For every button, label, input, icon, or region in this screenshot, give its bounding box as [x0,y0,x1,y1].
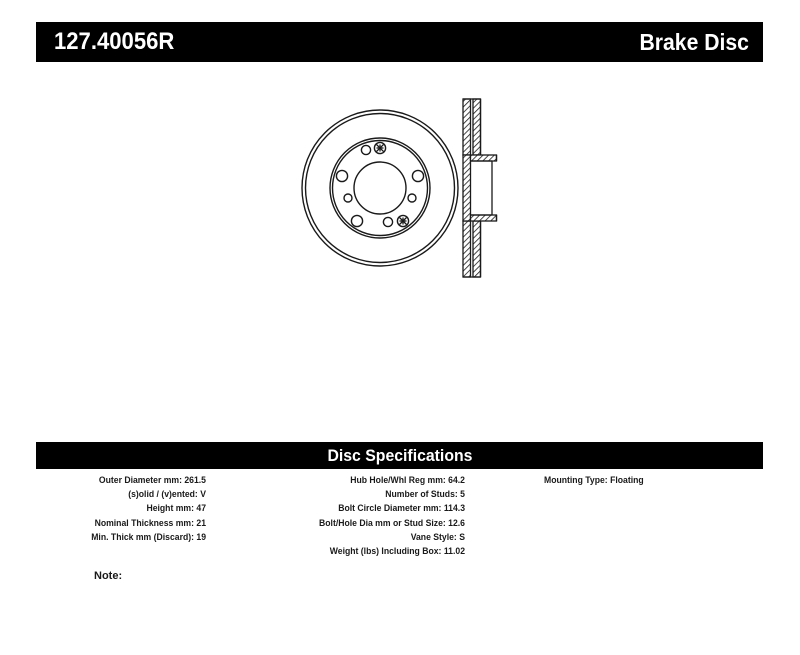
spec-value: 12.6 [448,518,465,528]
spec-value: Floating [610,475,644,485]
header-bar: 127.40056R Brake Disc [36,22,763,62]
spec-row: Weight (lbs) Including Box: 11.02 [232,544,465,558]
spec-row: Outer Diameter mm: 261.5 [43,473,206,487]
spec-section-header: Disc Specifications [36,442,763,469]
spec-label: Hub Hole/Whl Reg mm: [350,475,446,485]
spec-row: Min. Thick mm (Discard): 19 [43,530,206,544]
spec-label: (s)olid / (v)ented: [128,489,198,499]
spec-row: Bolt/Hole Dia mm or Stud Size: 12.6 [232,516,465,530]
product-drawing [280,86,520,296]
spec-label: Number of Studs: [385,489,457,499]
spec-column-left: Outer Diameter mm: 261.5 (s)olid / (v)en… [36,473,206,544]
spec-label: Vane Style: [411,532,457,542]
spec-row: Vane Style: S [232,530,465,544]
spec-label: Min. Thick mm (Discard): [91,532,194,542]
spec-row: Number of Studs: 5 [232,487,465,501]
spec-value: 5 [460,489,465,499]
spec-label: Height mm: [146,503,194,513]
spec-label: Nominal Thickness mm: [95,518,194,528]
spec-row: Bolt Circle Diameter mm: 114.3 [232,501,465,515]
spec-value: 64.2 [448,475,465,485]
spec-label: Bolt Circle Diameter mm: [338,503,441,513]
spec-column-right: Mounting Type: Floating [544,473,763,487]
spec-row: Mounting Type: Floating [544,473,754,487]
spec-value: 47 [196,503,206,513]
spec-row: Height mm: 47 [43,501,206,515]
spec-value: 21 [196,518,206,528]
brake-disc-cross-section-view [463,99,497,277]
spec-row: Hub Hole/Whl Reg mm: 64.2 [232,473,465,487]
spec-value: 261.5 [184,475,206,485]
spec-label: Weight (lbs) Including Box: [330,546,442,556]
spec-value: 11.02 [444,546,465,556]
spec-value: V [200,489,206,499]
spec-row: (s)olid / (v)ented: V [43,487,206,501]
note-field: Note: [94,570,428,582]
spec-column-middle: Hub Hole/Whl Reg mm: 64.2 Number of Stud… [222,473,465,558]
brake-disc-front-view [302,110,458,266]
spec-value: 19 [196,532,206,542]
product-type-label: Brake Disc [640,29,749,56]
spec-section-title: Disc Specifications [327,446,472,466]
spec-row: Nominal Thickness mm: 21 [43,516,206,530]
spec-value: 114.3 [444,503,465,513]
part-number: 127.40056R [54,28,174,56]
note-label: Note: [94,570,122,582]
spec-value: S [459,532,465,542]
spec-label: Outer Diameter mm: [99,475,182,485]
threaded-hole-marks [377,145,407,225]
spec-label: Bolt/Hole Dia mm or Stud Size: [319,518,446,528]
spec-label: Mounting Type: [544,475,608,485]
